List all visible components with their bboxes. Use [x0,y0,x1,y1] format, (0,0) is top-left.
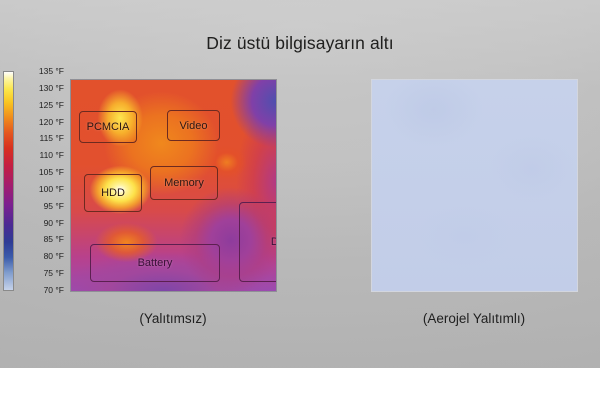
component-box-pcmcia: PCMCIA [79,111,137,143]
slide: Diz üstü bilgisayarın altı 135 °F 130 °F… [0,0,600,400]
scale-tick: 100 °F [16,185,64,194]
scale-tick: 85 °F [16,235,64,244]
scale-tick: 115 °F [16,134,64,143]
scale-tick: 90 °F [16,219,64,228]
component-box-hdd: HDD [84,174,142,212]
component-box-battery: Battery [90,244,220,282]
scale-tick: 95 °F [16,202,64,211]
scale-tick: 120 °F [16,118,64,127]
heatmap-insulated [372,80,577,291]
scale-tick: 70 °F [16,286,64,295]
thermal-image-uninsulated: PCMCIA Video HDD Memory CPU DVD Battery [70,79,277,292]
scale-tick: 130 °F [16,84,64,93]
thermal-image-insulated [371,79,578,292]
scale-tick: 135 °F [16,67,64,76]
scale-tick: 110 °F [16,151,64,160]
temperature-scale-ticks: 135 °F 130 °F 125 °F 120 °F 115 °F 110 °… [16,67,64,295]
caption-uninsulated: (Yalıtımsız) [58,311,288,326]
scale-tick: 125 °F [16,101,64,110]
component-box-dvd: DVD [239,202,277,282]
scale-tick: 105 °F [16,168,64,177]
temperature-scale: 135 °F 130 °F 125 °F 120 °F 115 °F 110 °… [2,71,64,291]
component-box-memory: Memory [150,166,218,200]
component-box-video: Video [167,110,220,141]
page-title: Diz üstü bilgisayarın altı [0,33,600,54]
slide-bottom-margin [0,368,600,400]
caption-insulated: (Aerojel Yalıtımlı) [359,311,589,326]
scale-tick: 80 °F [16,252,64,261]
temperature-scale-bar [3,71,14,291]
scale-tick: 75 °F [16,269,64,278]
